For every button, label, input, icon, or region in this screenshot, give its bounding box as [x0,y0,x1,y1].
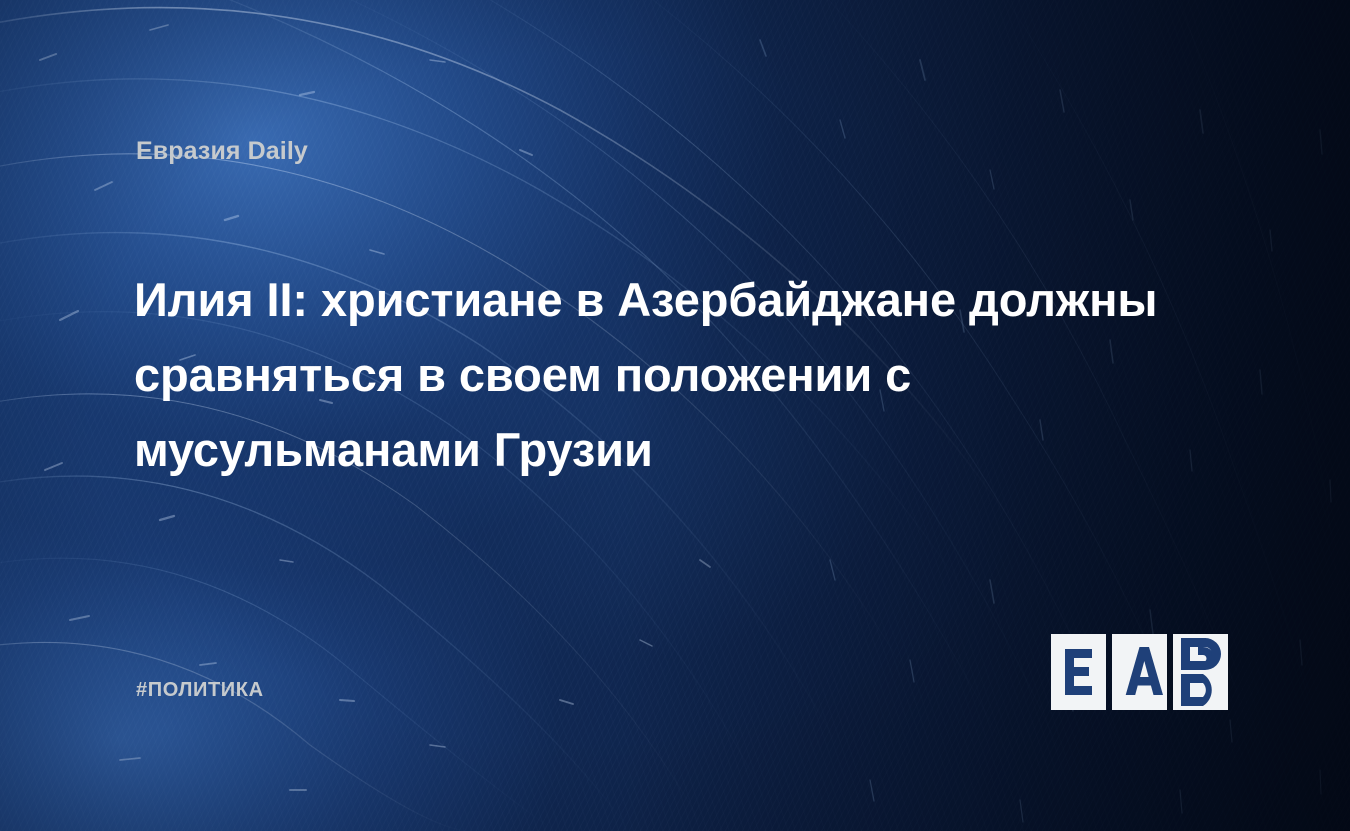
category-tag[interactable]: #ПОЛИТИКА [136,679,264,702]
article-cover-card: Евразия Daily Илия II: христиане в Азерб… [0,0,1350,831]
logo-letter-e-icon [1065,649,1092,695]
cover-content: Евразия Daily Илия II: христиане в Азерб… [0,0,1350,831]
brand-name: Евразия Daily [136,137,308,166]
eadaily-logo[interactable] [1051,632,1233,712]
page-title: Илия II: христиане в Азербайджане должны… [134,262,1264,487]
